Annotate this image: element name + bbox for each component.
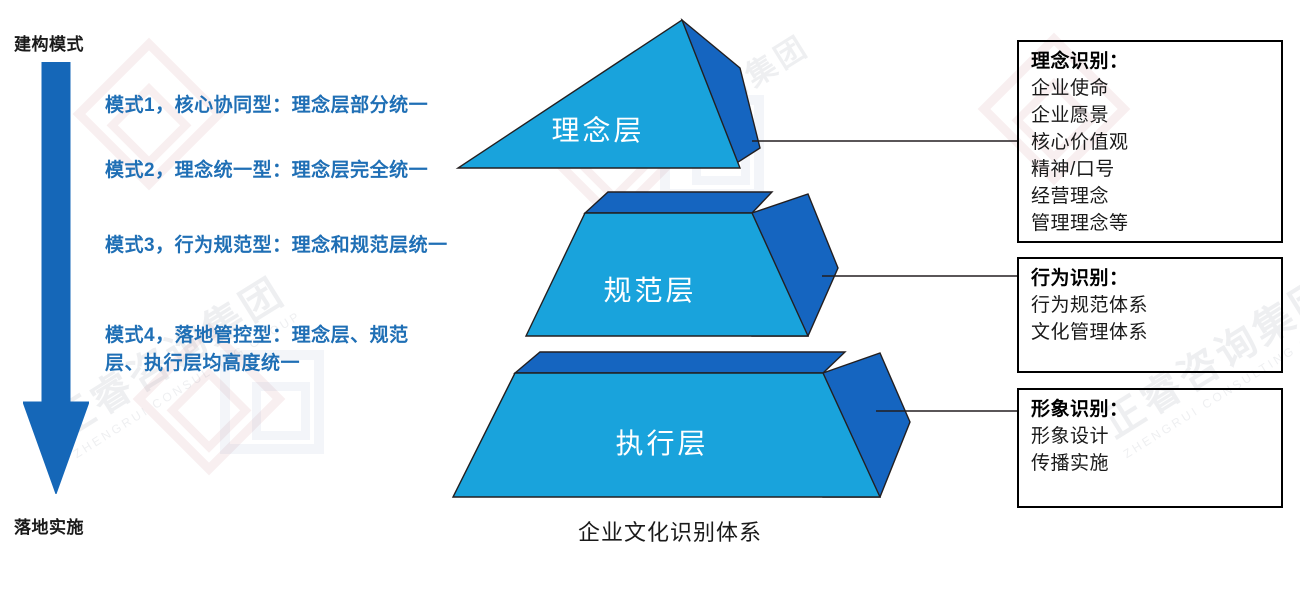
info-box-item: 文化管理体系 [1031,319,1281,346]
info-box-title: 理念识别： [1031,48,1281,75]
mode-item-2: 模式2，理念统一型：理念层完全统一 [105,157,428,185]
info-box-item: 行为规范体系 [1031,292,1281,319]
pyramid-layer-middle-label: 规范层 [603,275,696,306]
pyramid-layer-bottom-label: 执行层 [615,428,708,459]
mode-item-3: 模式3，行为规范型：理念和规范层统一 [105,232,448,260]
info-box-mind-identity[interactable]: 理念识别： 企业使命 企业愿景 核心价值观 精神/口号 经营理念 管理理念等 [1017,40,1283,243]
pyramid-layer-top-label: 理念层 [551,115,644,146]
info-box-item: 企业使命 [1031,75,1281,102]
info-box-behavior-identity[interactable]: 行为识别： 行为规范体系 文化管理体系 [1017,257,1283,373]
info-box-item: 管理理念等 [1031,210,1281,237]
pyramid-layer-bottom-top-face [515,352,845,373]
implementation-label: 落地实施 [14,513,84,538]
pyramid-layer-middle-top-face [585,192,772,213]
info-box-visual-identity[interactable]: 形象识别： 形象设计 传播实施 [1017,388,1283,508]
info-box-item: 传播实施 [1031,450,1281,477]
construction-mode-label: 建构模式 [14,30,84,55]
info-box-item: 形象设计 [1031,423,1281,450]
pyramid-diagram: 理念层 规范层 执行层 [440,8,940,513]
downward-arrow-icon [23,62,89,494]
pyramid-caption: 企业文化识别体系 [520,515,820,547]
info-box-item: 经营理念 [1031,183,1281,210]
info-box-title: 形象识别： [1031,396,1281,423]
info-box-item: 核心价值观 [1031,129,1281,156]
mode-item-1: 模式1，核心协同型：理念层部分统一 [105,92,428,120]
info-box-title: 行为识别： [1031,265,1281,292]
info-box-item: 精神/口号 [1031,156,1281,183]
info-box-item: 企业愿景 [1031,102,1281,129]
slide-canvas: 正睿咨询集团 ZHENGRUI CONSULTING GROUP 正睿咨询集团 … [0,0,1300,590]
